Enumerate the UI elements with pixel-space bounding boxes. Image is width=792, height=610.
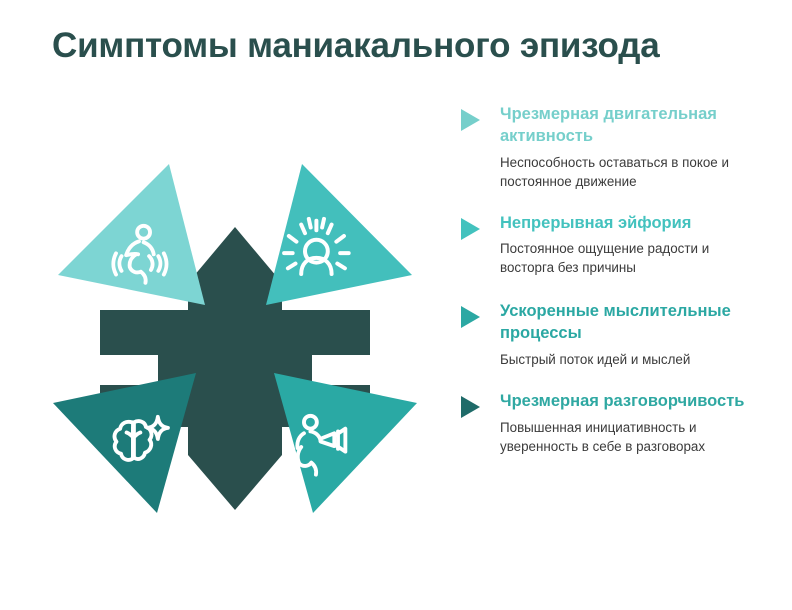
page-title: Симптомы маниакального эпизода <box>52 26 752 66</box>
symptom-description-2: Постоянное ощущение радости и восторга б… <box>500 239 758 277</box>
symptom-diagram <box>30 155 440 555</box>
symptom-item-1: Чрезмерная двигательная активность Неспо… <box>458 104 758 191</box>
wedge-top-left <box>58 164 205 305</box>
play-arrow-icon-4 <box>461 396 480 418</box>
symptom-item-3: Ускоренные мыслительные процессы Быстрый… <box>458 301 758 369</box>
wedge-bottom-left <box>53 373 196 513</box>
symptom-list: Чрезмерная двигательная активность Неспо… <box>458 104 758 456</box>
symptom-item-4: Чрезмерная разговорчивость Повышенная ин… <box>458 391 758 456</box>
symptom-heading-4: Чрезмерная разговорчивость <box>500 391 758 413</box>
wedge-bottom-left-shape <box>53 373 196 513</box>
wedge-top-right <box>266 164 412 305</box>
infographic-root: Симптомы маниакального эпизода <box>0 0 792 610</box>
symptom-description-3: Быстрый поток идей и мыслей <box>500 350 758 369</box>
symptom-description-4: Повышенная инициативность и уверенность … <box>500 418 758 456</box>
symptom-heading-1: Чрезмерная двигательная активность <box>500 104 758 148</box>
play-arrow-icon-2 <box>461 218 480 240</box>
symptom-description-1: Неспособность оставаться в покое и посто… <box>500 153 758 191</box>
play-arrow-icon-1 <box>461 109 480 131</box>
wedge-bottom-right <box>274 373 417 513</box>
play-arrow-icon-3 <box>461 306 480 328</box>
symptom-heading-3: Ускоренные мыслительные процессы <box>500 301 758 345</box>
wedge-top-left-shape <box>58 164 205 305</box>
symptom-item-2: Непрерывная эйфория Постоянное ощущение … <box>458 213 758 278</box>
symptom-heading-2: Непрерывная эйфория <box>500 213 758 235</box>
